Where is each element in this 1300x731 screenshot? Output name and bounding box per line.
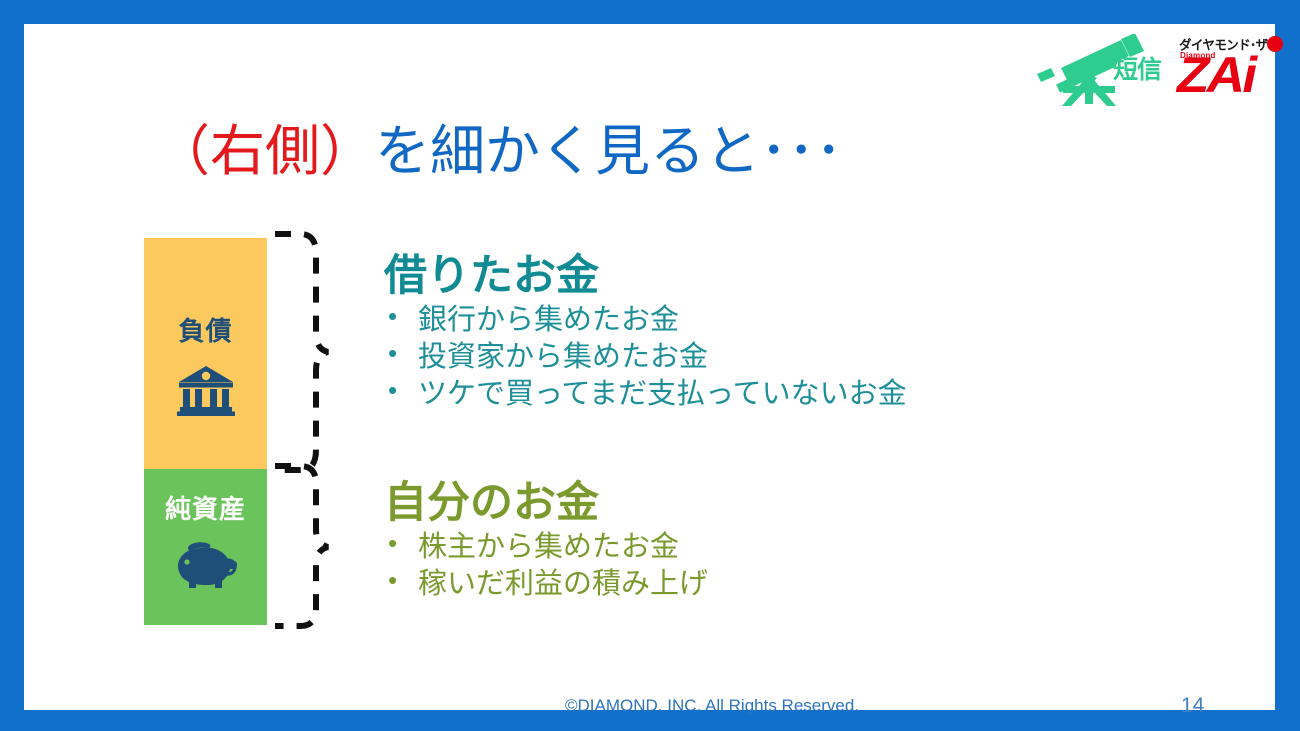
bullet-list-own: 株主から集めたお金 稼いだ利益の積み上げ [384, 529, 708, 603]
list-item: 銀行から集めたお金 [384, 302, 907, 339]
stack-block-equity: 純資産 [144, 469, 267, 625]
footer-copyright: ©DIAMOND, INC. All Rights Reserved. [565, 696, 859, 716]
slide-canvas: 短信 ダイヤモンド･ザイ ZAi Diamond （右側）を細かく見ると･･･ … [24, 24, 1275, 710]
stack-label-equity: 純資産 [165, 489, 246, 526]
zai-dot-icon [1267, 36, 1283, 52]
section-borrowed-money: 借りたお金 銀行から集めたお金 投資家から集めたお金 ツケで買ってまだ支払ってい… [384, 252, 907, 413]
slide: 短信 ダイヤモンド･ザイ ZAi Diamond （右側）を細かく見ると･･･ … [0, 0, 1300, 731]
page-title: （右側）を細かく見ると･･･ [155, 120, 843, 183]
list-item: 株主から集めたお金 [384, 529, 708, 566]
section-heading-own: 自分のお金 [384, 479, 708, 527]
list-item: ツケで買ってまだ支払っていないお金 [384, 376, 907, 413]
list-item: 投資家から集めたお金 [384, 339, 907, 376]
brace-liabilities [272, 230, 330, 474]
list-item: 稼いだ利益の積み上げ [384, 566, 708, 603]
bank-icon [177, 364, 235, 416]
piggy-bank-icon [173, 540, 239, 590]
footer-page-number: 14 [1181, 694, 1204, 718]
balance-sheet-stack: 負債 純資産 [144, 238, 267, 625]
stack-label-liabilities: 負債 [178, 311, 232, 348]
tanshin-label: 短信 [1113, 58, 1161, 83]
section-own-money: 自分のお金 株主から集めたお金 稼いだ利益の積み上げ [384, 479, 708, 603]
zai-diamond-label: Diamond [1180, 51, 1216, 60]
stack-block-liabilities: 負債 [144, 238, 267, 469]
page-title-rest: を細かく見ると･･･ [375, 120, 843, 182]
bullet-list-borrowed: 銀行から集めたお金 投資家から集めたお金 ツケで買ってまだ支払っていないお金 [384, 302, 907, 413]
brand-logo-group: 短信 ダイヤモンド･ザイ ZAi Diamond [1029, 28, 1279, 108]
page-title-highlight: （右側） [155, 120, 375, 182]
section-heading-borrowed: 借りたお金 [384, 252, 907, 300]
brace-equity [272, 462, 330, 630]
